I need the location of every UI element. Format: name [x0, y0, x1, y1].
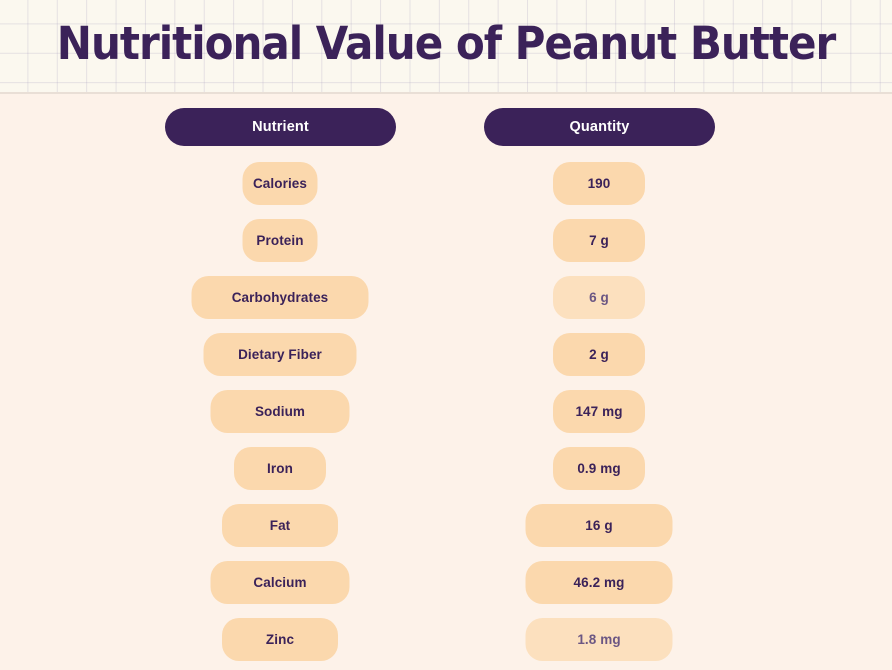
column-header-nutrient: Nutrient [165, 108, 396, 146]
cell-nutrient: Protein [243, 219, 318, 262]
table-row: Calories190 [0, 162, 892, 219]
table-header-row: Nutrient Quantity [0, 93, 892, 146]
cell-nutrient: Fat [222, 504, 338, 547]
slide-root: Nutritional Value of Peanut Butter Nutri… [0, 0, 892, 670]
cell-quantity: 7 g [553, 219, 645, 262]
cell-nutrient: Calories [243, 162, 318, 205]
cell-quantity: 1.8 mg [526, 618, 673, 661]
table-row: Calcium46.2 mg [0, 561, 892, 618]
cell-nutrient: Zinc [222, 618, 338, 661]
table-row: Sodium147 mg [0, 390, 892, 447]
table-row: Carbohydrates6 g [0, 276, 892, 333]
cell-nutrient: Calcium [211, 561, 350, 604]
cell-quantity: 16 g [526, 504, 673, 547]
cell-nutrient: Iron [234, 447, 326, 490]
cell-quantity: 46.2 mg [526, 561, 673, 604]
page-title: Nutritional Value of Peanut Butter [29, 13, 863, 75]
table-row: Fat16 g [0, 504, 892, 561]
cell-quantity: 190 [553, 162, 645, 205]
table-row: Iron0.9 mg [0, 447, 892, 504]
cell-quantity: 6 g [553, 276, 645, 319]
nutrition-table: Nutrient Quantity Calories190Protein7 gC… [0, 93, 892, 670]
cell-quantity: 147 mg [553, 390, 645, 433]
table-row: Protein7 g [0, 219, 892, 276]
cell-nutrient: Dietary Fiber [204, 333, 357, 376]
cell-quantity: 2 g [553, 333, 645, 376]
cell-quantity: 0.9 mg [553, 447, 645, 490]
table-row: Dietary Fiber2 g [0, 333, 892, 390]
column-header-quantity: Quantity [484, 108, 715, 146]
cell-nutrient: Sodium [211, 390, 350, 433]
table-row: Zinc1.8 mg [0, 618, 892, 670]
header-band: Nutritional Value of Peanut Butter [0, 0, 892, 93]
table-body: Calories190Protein7 gCarbohydrates6 gDie… [0, 162, 892, 670]
cell-nutrient: Carbohydrates [192, 276, 369, 319]
